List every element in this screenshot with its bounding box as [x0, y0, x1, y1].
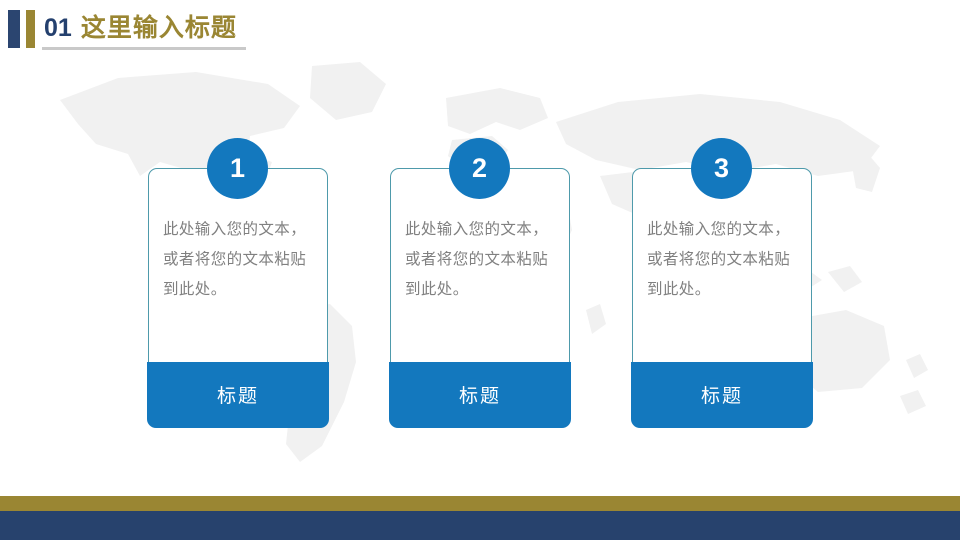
- info-card-footer-label: 标题: [459, 381, 501, 408]
- info-card-text: 此处输入您的文本，或者将您的文本粘贴到此处。: [163, 215, 311, 305]
- header-underline: [42, 47, 246, 50]
- section-number: 01: [44, 14, 72, 42]
- section-title: 这里输入标题: [81, 14, 237, 42]
- step-number-label: 3: [714, 155, 729, 182]
- info-card-footer-label: 标题: [217, 381, 259, 408]
- step-number-label: 2: [472, 155, 487, 182]
- info-card-footer[interactable]: 标题: [389, 362, 570, 428]
- page-title: 01这里输入标题: [44, 11, 237, 45]
- header-accent-bar-gold: [26, 10, 35, 48]
- info-card-footer-label: 标题: [701, 381, 743, 408]
- info-card[interactable]: 此处输入您的文本，或者将您的文本粘贴到此处。 标题: [390, 168, 570, 427]
- step-number-badge: 3: [691, 138, 752, 199]
- step-number-badge: 1: [207, 138, 268, 199]
- step-number-badge: 2: [449, 138, 510, 199]
- info-card[interactable]: 此处输入您的文本，或者将您的文本粘贴到此处。 标题: [632, 168, 812, 427]
- step-number-label: 1: [230, 155, 245, 182]
- info-card[interactable]: 此处输入您的文本，或者将您的文本粘贴到此处。 标题: [148, 168, 328, 427]
- info-card-text: 此处输入您的文本，或者将您的文本粘贴到此处。: [647, 215, 795, 305]
- slide-canvas: 01这里输入标题 此处输入您的文本，或者将您的文本粘贴到此处。 标题 1 此处输…: [0, 0, 960, 540]
- footer-band-gold: [0, 496, 960, 511]
- slide-header: 01这里输入标题: [0, 0, 960, 58]
- info-card-footer[interactable]: 标题: [631, 362, 812, 428]
- footer-band-navy: [0, 511, 960, 540]
- info-card-text: 此处输入您的文本，或者将您的文本粘贴到此处。: [405, 215, 553, 305]
- header-accent-bar-navy: [8, 10, 20, 48]
- info-card-footer[interactable]: 标题: [147, 362, 328, 428]
